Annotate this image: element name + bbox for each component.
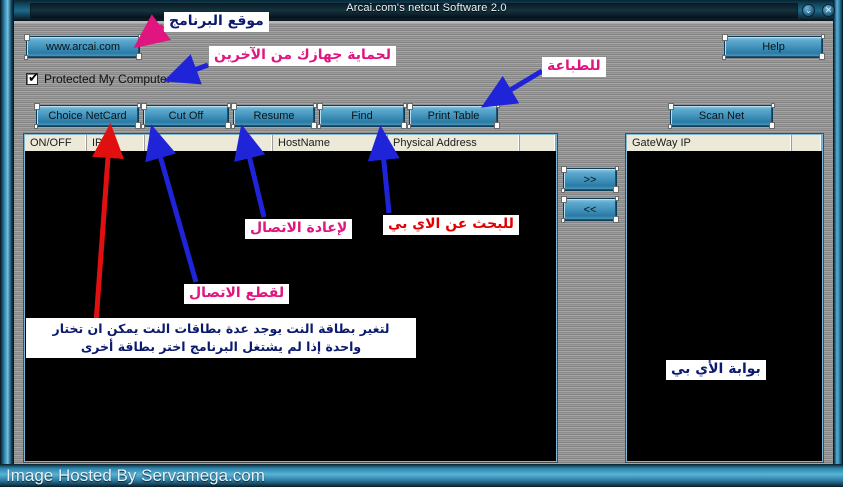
column-header-onoff[interactable]: ON/OFF xyxy=(25,135,87,152)
column-header-spacer-1[interactable] xyxy=(145,135,273,152)
annotation-find: للبحث عن الاي بي xyxy=(383,215,519,235)
help-button-label: Help xyxy=(762,41,785,53)
website-button[interactable]: www.arcai.com xyxy=(26,36,140,58)
resume-button[interactable]: Resume xyxy=(233,105,315,127)
chevron-down-icon[interactable]: ⌄ xyxy=(802,4,815,17)
scan-net-button[interactable]: Scan Net xyxy=(670,105,773,127)
gateway-list-body[interactable] xyxy=(627,152,822,461)
annotation-netcard-line1: لتغير بطاقة النت يوجد عدة بطاقات النت يم… xyxy=(32,320,410,338)
move-right-button[interactable]: >> xyxy=(563,168,617,191)
client-list-body[interactable] xyxy=(25,152,556,461)
client-list-header: ON/OFF IP HostName Physical Address xyxy=(25,135,556,152)
column-header-physical-address[interactable]: Physical Address xyxy=(388,135,520,152)
window-frame-right-edge xyxy=(833,0,843,487)
website-button-label: www.arcai.com xyxy=(46,41,120,53)
annotation-gateway: بوابة الأي بي xyxy=(666,360,766,380)
help-button[interactable]: Help xyxy=(724,36,823,58)
close-icon[interactable]: ✕ xyxy=(822,4,835,17)
annotation-print: للطباعة xyxy=(542,57,606,77)
find-button[interactable]: Find xyxy=(319,105,405,127)
choice-netcard-button[interactable]: Choice NetCard xyxy=(36,105,139,127)
annotation-netcard-line2: واحدة إذا لم يشتغل البرنامج اختر بطاقة أ… xyxy=(32,338,410,356)
cut-off-button[interactable]: Cut Off xyxy=(143,105,229,127)
move-right-label: >> xyxy=(584,174,597,186)
gateway-list-header: GateWay IP xyxy=(627,135,822,152)
checkbox-box[interactable]: ✔ xyxy=(26,73,38,85)
move-left-button[interactable]: << xyxy=(563,198,617,221)
protect-my-computer-label: Protected My Computer xyxy=(44,72,171,86)
annotation-cutoff: لقطع الاتصال xyxy=(184,284,289,304)
panel-top-highlight xyxy=(14,21,833,23)
resume-label: Resume xyxy=(254,110,295,122)
cut-off-label: Cut Off xyxy=(169,110,204,122)
scan-net-label: Scan Net xyxy=(699,110,744,122)
check-icon: ✔ xyxy=(28,72,39,86)
protect-my-computer-checkbox[interactable]: ✔ Protected My Computer xyxy=(26,72,171,86)
annotation-site: موقع البرنامج xyxy=(164,12,269,32)
find-label: Find xyxy=(351,110,372,122)
column-header-ip[interactable]: IP xyxy=(87,135,145,152)
app-screenshot: Arcai.com's netcut Software 2.0 ⌄ ✕ www.… xyxy=(0,0,843,487)
column-header-hostname[interactable]: HostName xyxy=(273,135,388,152)
choice-netcard-label: Choice NetCard xyxy=(48,110,126,122)
print-table-label: Print Table xyxy=(428,110,480,122)
column-header-gateway-ip[interactable]: GateWay IP xyxy=(627,135,792,152)
print-table-button[interactable]: Print Table xyxy=(409,105,498,127)
column-header-spacer-2[interactable] xyxy=(520,135,556,152)
annotation-netcard: لتغير بطاقة النت يوجد عدة بطاقات النت يم… xyxy=(26,318,416,358)
annotation-resume: لإعادة الاتصال xyxy=(245,219,352,239)
move-left-label: << xyxy=(584,204,597,216)
annotation-protect: لحماية جهازك من الآخرين xyxy=(209,46,396,66)
watermark-text: Image Hosted By Servamega.com xyxy=(6,466,265,486)
window-title: Arcai.com's netcut Software 2.0 xyxy=(14,2,839,14)
gateway-list[interactable]: GateWay IP xyxy=(626,134,823,462)
client-list[interactable]: ON/OFF IP HostName Physical Address xyxy=(24,134,557,462)
column-header-gateway-spacer[interactable] xyxy=(792,135,822,152)
window-frame-left-edge xyxy=(0,0,14,487)
